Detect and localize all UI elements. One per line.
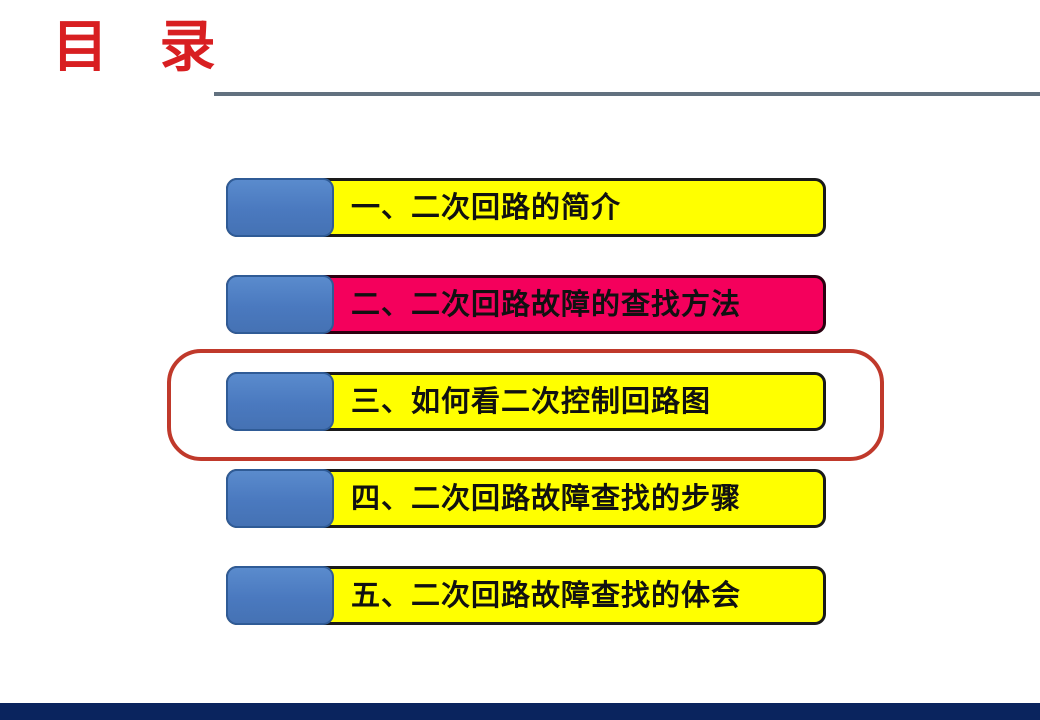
toc-item-label: 一、二次回路的简介 [351,193,621,222]
toc-item-label: 三、如何看二次控制回路图 [351,387,711,416]
toc-item-4[interactable]: 四、二次回路故障查找的步骤 [226,469,826,528]
toc-row: 一、二次回路的简介 [0,160,1040,257]
toc-item-5[interactable]: 五、二次回路故障查找的体会 [226,566,826,625]
toc-item-label: 五、二次回路故障查找的体会 [351,581,741,610]
toc-row: 四、二次回路故障查找的步骤 [0,451,1040,548]
toc-row: 二、二次回路故障的查找方法 [0,257,1040,354]
toc-item-marker [226,275,334,334]
title-divider [214,92,1040,96]
toc-item-label: 四、二次回路故障查找的步骤 [351,484,741,513]
toc-item-marker [226,469,334,528]
toc-row: 三、如何看二次控制回路图 [0,354,1040,451]
toc-item-marker [226,372,334,431]
toc-item-marker [226,178,334,237]
toc-item-1[interactable]: 一、二次回路的简介 [226,178,826,237]
toc-item-label: 二、二次回路故障的查找方法 [351,290,741,319]
slide-footer-bar [0,703,1040,720]
slide-header: 目 录 [0,0,1040,110]
table-of-contents: 一、二次回路的简介 二、二次回路故障的查找方法 三、如何看二次控制回路图 [0,160,1040,645]
toc-item-marker [226,566,334,625]
presentation-slide: 目 录 一、二次回路的简介 二、二次回路故障的查找方法 [0,0,1040,720]
toc-row: 五、二次回路故障查找的体会 [0,548,1040,645]
toc-item-2[interactable]: 二、二次回路故障的查找方法 [226,275,826,334]
toc-item-3[interactable]: 三、如何看二次控制回路图 [226,372,826,431]
page-title: 目 录 [52,20,232,76]
